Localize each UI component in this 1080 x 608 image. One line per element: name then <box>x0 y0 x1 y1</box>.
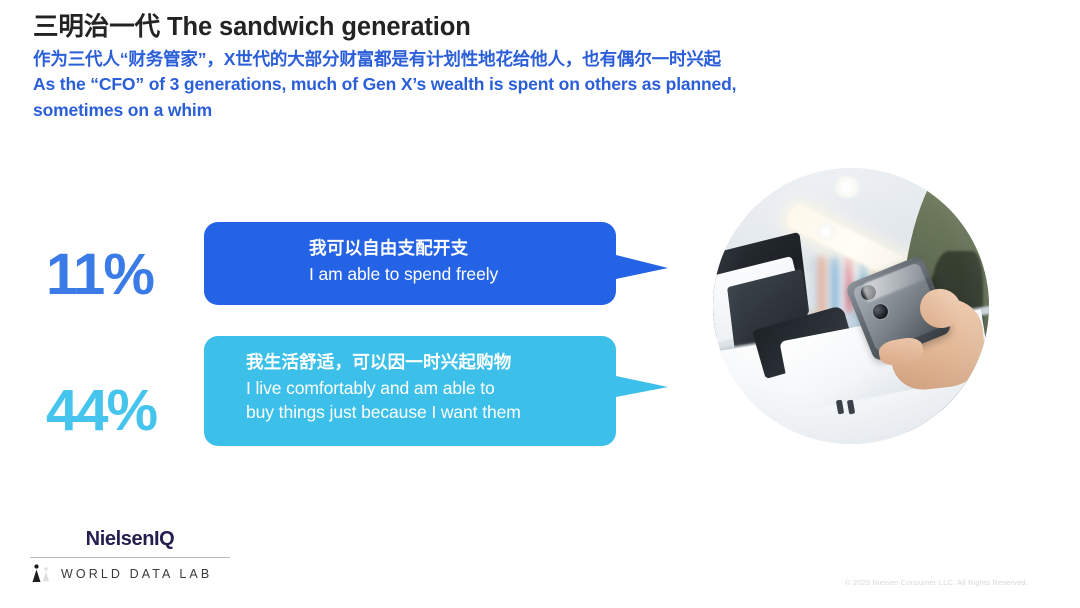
subtitle-english-line-2: sometimes on a whim <box>33 98 993 124</box>
bubble-1-quote-chinese: 我可以自由支配开支 <box>226 236 594 261</box>
brand-logo-block: NielsenIQ WORLD DATA LAB <box>30 528 230 584</box>
speech-bubble-2: 我生活舒适，可以因一时兴起购物 I live comfortably and a… <box>204 336 616 446</box>
nielseniq-logo-text: NielsenIQ <box>30 528 230 550</box>
stat-percentage-2: 44% <box>46 382 204 440</box>
bubble-1-quote-english: I am able to spend freely <box>226 262 594 286</box>
speech-bubble-2-tail <box>616 376 668 397</box>
world-data-lab-logo: WORLD DATA LAB <box>30 564 230 584</box>
stat-row-2: 44% 我生活舒适，可以因一时兴起购物 I live comfortably a… <box>46 336 616 446</box>
page-title: 三明治一代 The sandwich generation <box>33 11 993 44</box>
stat-row-1: 11% 我可以自由支配开支 I am able to spend freely <box>46 222 616 305</box>
speech-bubble-1-wrapper: 我可以自由支配开支 I am able to spend freely <box>204 222 616 305</box>
bubble-2-quote-english-line-2: buy things just because I want them <box>246 400 594 424</box>
slide-canvas: 三明治一代 The sandwich generation 作为三代人“财务管家… <box>0 0 1080 608</box>
page-subtitle: 作为三代人“财务管家”，X世代的大部分财富都是有计划性地花给他人，也有偶尔一时兴… <box>33 47 993 124</box>
photo-vignette <box>713 168 989 444</box>
bubble-1-quote-english-line-1: I am able to spend freely <box>309 262 594 286</box>
world-data-lab-label: WORLD DATA LAB <box>61 567 212 581</box>
speech-bubble-1: 我可以自由支配开支 I am able to spend freely <box>204 222 616 305</box>
bubble-2-quote-english-line-1: I live comfortably and am able to <box>246 376 594 400</box>
world-data-lab-mark-icon <box>30 564 52 584</box>
logo-divider <box>30 557 230 558</box>
bubble-2-quote-chinese: 我生活舒适，可以因一时兴起购物 <box>226 350 594 375</box>
photo-composition <box>713 168 989 444</box>
speech-bubble-1-tail <box>616 255 668 279</box>
stat-percentage-1: 11% <box>46 246 204 304</box>
circular-photo-shopper <box>713 168 989 444</box>
subtitle-chinese: 作为三代人“财务管家”，X世代的大部分财富都是有计划性地花给他人，也有偶尔一时兴… <box>33 47 993 73</box>
subtitle-english-line-1: As the “CFO” of 3 generations, much of G… <box>33 72 993 98</box>
speech-bubble-2-wrapper: 我生活舒适，可以因一时兴起购物 I live comfortably and a… <box>204 336 616 446</box>
slide-header: 三明治一代 The sandwich generation 作为三代人“财务管家… <box>33 11 993 123</box>
bubble-2-quote-english: I live comfortably and am able to buy th… <box>226 376 594 424</box>
copyright-notice: © 2025 Nielsen Consumer LLC. All Rights … <box>845 578 1028 587</box>
